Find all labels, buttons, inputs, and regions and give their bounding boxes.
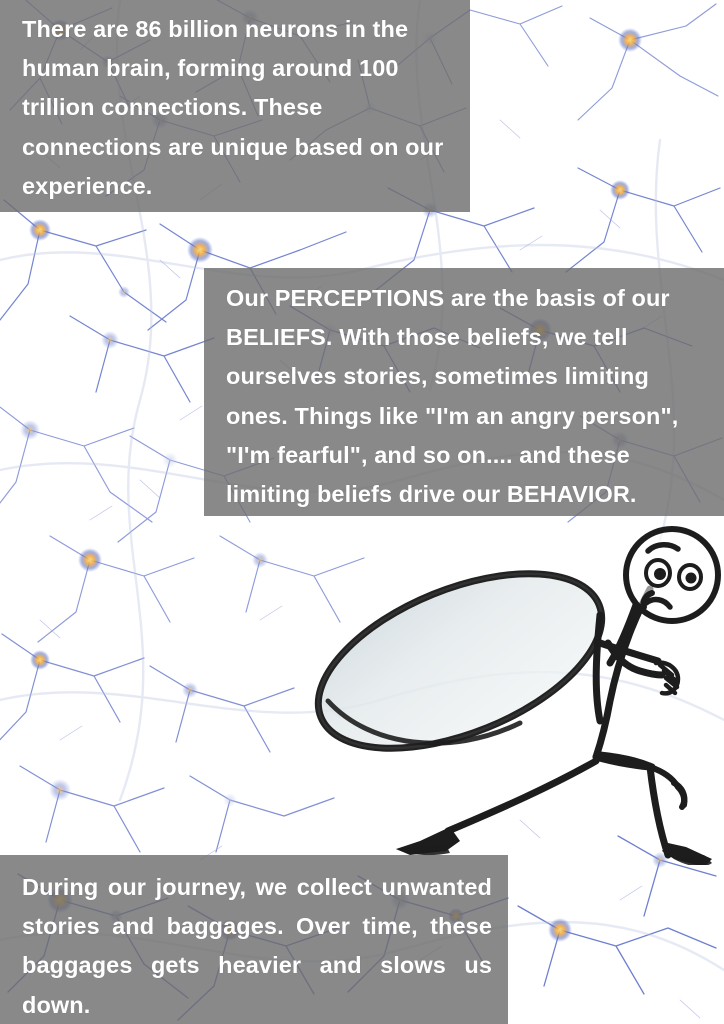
panel-baggage: During our journey, we collect unwanted … [0, 855, 508, 1024]
panel-perceptions-beliefs: Our PERCEPTIONS are the basis of our BEL… [204, 268, 724, 516]
panel-top-text: There are 86 billion neurons in the huma… [22, 10, 454, 206]
panel-middle-text: Our PERCEPTIONS are the basis of our BEL… [226, 279, 714, 514]
panel-neuron-fact: There are 86 billion neurons in the huma… [0, 0, 470, 212]
stick-figure-illustration [300, 515, 724, 865]
panel-bottom-text: During our journey, we collect unwanted … [22, 868, 492, 1024]
poster-canvas: There are 86 billion neurons in the huma… [0, 0, 724, 1024]
baggage-sack [300, 538, 626, 784]
figure-head [626, 529, 718, 621]
